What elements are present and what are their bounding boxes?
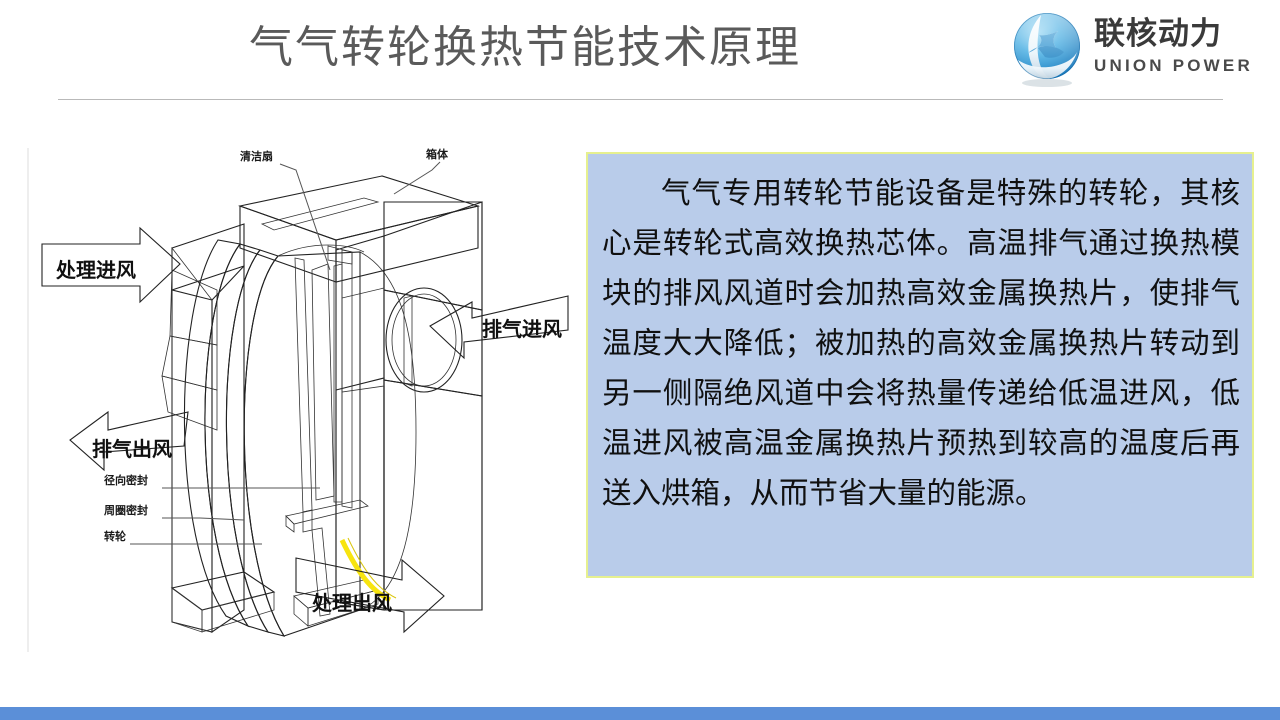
flow-arrow-exhaust-air-out: 排气出风	[70, 412, 188, 470]
footer-accent-bar	[0, 707, 1280, 720]
header-divider	[58, 99, 1223, 100]
flow-arrow-exhaust-air-out-label: 排气出风	[92, 437, 172, 461]
flow-arrow-process-air-in-label: 处理进风	[55, 258, 136, 282]
description-paragraph: 气气专用转轮节能设备是特殊的转轮，其核心是转轮式高效换热芯体。高温排气通过换热模…	[602, 168, 1240, 518]
union-power-globe-icon	[1008, 10, 1086, 88]
flow-arrow-process-air-out: 处理出风	[296, 558, 444, 632]
exhaust-port-opening	[386, 288, 462, 392]
callout-circumferential-seal: 周圈密封	[104, 503, 244, 520]
callout-clean-fan: 清洁扇	[240, 149, 330, 270]
callout-rotor: 转轮	[104, 529, 262, 544]
slide-root: 气气转轮换热节能技术原理	[0, 0, 1280, 720]
radial-seal-structure	[286, 246, 378, 626]
rotor-heat-exchanger-diagram: 清洁扇 箱体 径向密封 周圈密封 转轮	[12, 140, 572, 660]
callout-cabinet-label: 箱体	[426, 147, 449, 161]
logo-company-cn: 联核动力	[1094, 14, 1270, 54]
description-panel: 气气专用转轮节能设备是特殊的转轮，其核心是转轮式高效换热芯体。高温排气通过换热模…	[586, 152, 1254, 578]
callout-cabinet: 箱体	[394, 147, 449, 194]
flow-arrow-process-air-out-label: 处理出风	[311, 591, 392, 615]
logo-wordmark: 联核动力 UNION POWER	[1094, 14, 1270, 86]
flow-arrow-exhaust-air-in: 排气进风	[430, 296, 568, 358]
process-duct-green	[162, 224, 274, 632]
flow-arrow-process-air-in: 处理进风	[42, 228, 180, 302]
callout-rotor-label: 转轮	[104, 529, 126, 543]
callout-circumferential-seal-label: 周圈密封	[104, 503, 148, 517]
company-logo: 联核动力 UNION POWER	[1008, 8, 1270, 92]
slide-header: 气气转轮换热节能技术原理	[0, 0, 1280, 100]
logo-company-en: UNION POWER	[1094, 54, 1270, 78]
callout-clean-fan-label: 清洁扇	[240, 149, 273, 163]
rotor-wheel-assembly	[184, 240, 416, 636]
callout-radial-seal-label: 径向密封	[104, 473, 148, 487]
flow-arrow-exhaust-air-in-label: 排气进风	[482, 317, 562, 341]
page-title: 气气转轮换热节能技术原理	[60, 18, 990, 78]
cabinet-housing	[240, 176, 478, 282]
exhaust-duct-red	[336, 202, 482, 610]
